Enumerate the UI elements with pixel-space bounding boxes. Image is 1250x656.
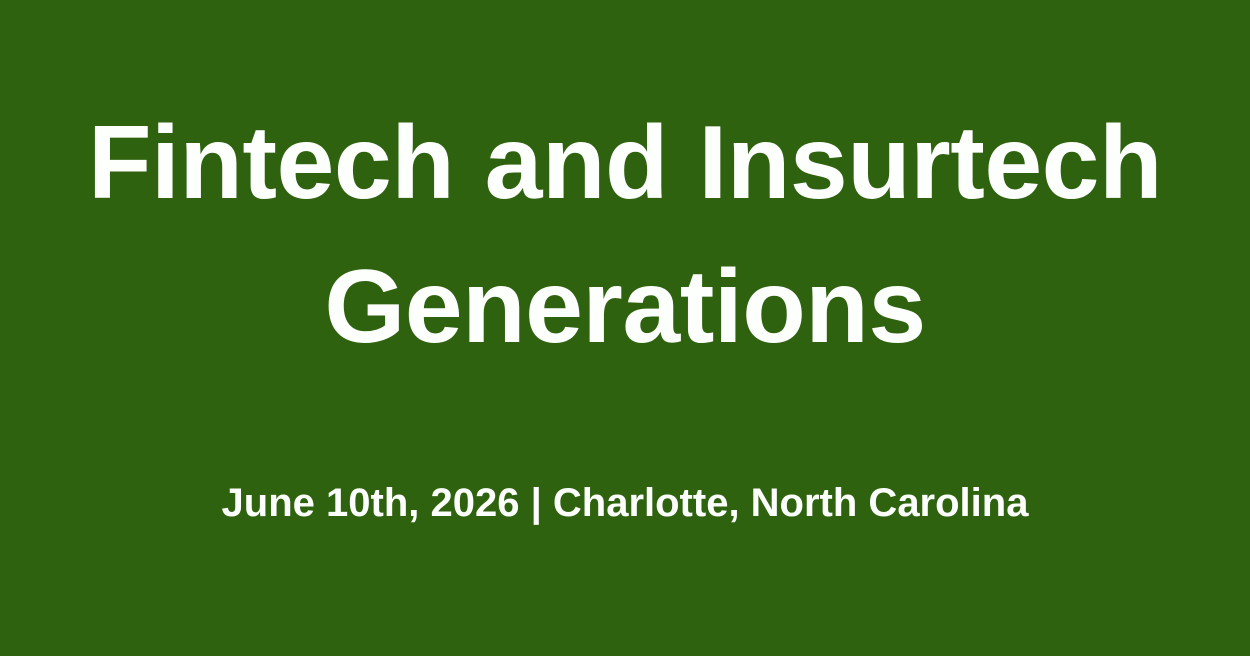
event-banner: Fintech and Insurtech Generations June 1…: [0, 0, 1250, 656]
banner-content: Fintech and Insurtech Generations June 1…: [60, 0, 1190, 531]
event-date-location: June 10th, 2026 | Charlotte, North Carol…: [60, 379, 1190, 531]
page-title: Fintech and Insurtech Generations: [60, 0, 1190, 379]
